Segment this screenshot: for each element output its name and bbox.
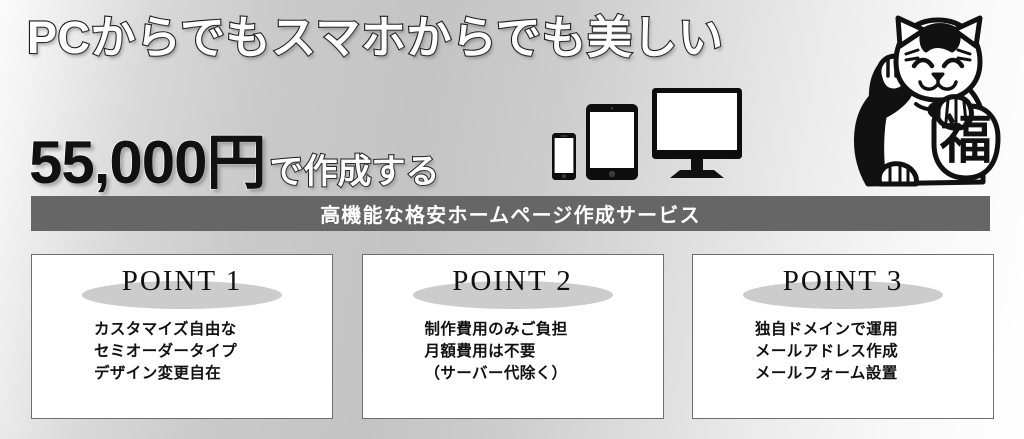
maneki-neko-lucky-cat-icon: 福: [838, 6, 1013, 192]
points-row: POINT 1 カスタマイズ自由な セミオーダータイプ デザイン変更自在 POI…: [31, 254, 994, 419]
point-2-line-1: 制作費用のみご負担: [425, 319, 663, 341]
point-2-line-3: （サーバー代除く）: [425, 363, 663, 385]
price-amount: 55,000円: [29, 114, 266, 201]
point-3-line-1: 独自ドメインで運用: [755, 319, 993, 341]
point-box-1: POINT 1 カスタマイズ自由な セミオーダータイプ デザイン変更自在: [31, 254, 333, 419]
price-line: 55,000円 で作成する: [29, 114, 440, 201]
point-3-header: POINT 3: [693, 255, 993, 313]
point-box-3: POINT 3 独自ドメインで運用 メールアドレス作成 メールフォーム設置: [692, 254, 994, 419]
point-3-title: POINT 3: [693, 265, 993, 298]
point-1-line-2: セミオーダータイプ: [94, 341, 332, 363]
point-1-title: POINT 1: [32, 265, 332, 298]
smartphone-icon: [552, 133, 576, 180]
point-1-line-1: カスタマイズ自由な: [94, 319, 332, 341]
service-bar: 高機能な格安ホームページ作成サービス: [31, 196, 990, 231]
tablet-icon: [586, 104, 638, 180]
point-2-line-2: 月額費用は不要: [425, 341, 663, 363]
point-3-line-3: メールフォーム設置: [755, 363, 993, 385]
plaque-kanji: 福: [939, 111, 992, 171]
service-bar-text: 高機能な格安ホームページ作成サービス: [320, 199, 701, 228]
point-2-title: POINT 2: [363, 265, 663, 298]
point-1-lines: カスタマイズ自由な セミオーダータイプ デザイン変更自在: [32, 319, 332, 385]
headline-text: PCからでもスマホからでも美しい: [27, 14, 723, 61]
desktop-monitor-icon: [652, 88, 742, 180]
point-box-2: POINT 2 制作費用のみご負担 月額費用は不要 （サーバー代除く）: [362, 254, 664, 419]
point-2-header: POINT 2: [363, 255, 663, 313]
point-2-lines: 制作費用のみご負担 月額費用は不要 （サーバー代除く）: [363, 319, 663, 385]
promo-banner: PCからでもスマホからでも美しい 55,000円 で作成する 高機能な格安ホーム…: [0, 0, 1024, 439]
point-3-line-2: メールアドレス作成: [755, 341, 993, 363]
point-1-header: POINT 1: [32, 255, 332, 313]
point-3-lines: 独自ドメインで運用 メールアドレス作成 メールフォーム設置: [693, 319, 993, 385]
point-1-line-3: デザイン変更自在: [94, 363, 332, 385]
device-illustration-group: [550, 88, 740, 180]
price-suffix: で作成する: [270, 144, 440, 193]
